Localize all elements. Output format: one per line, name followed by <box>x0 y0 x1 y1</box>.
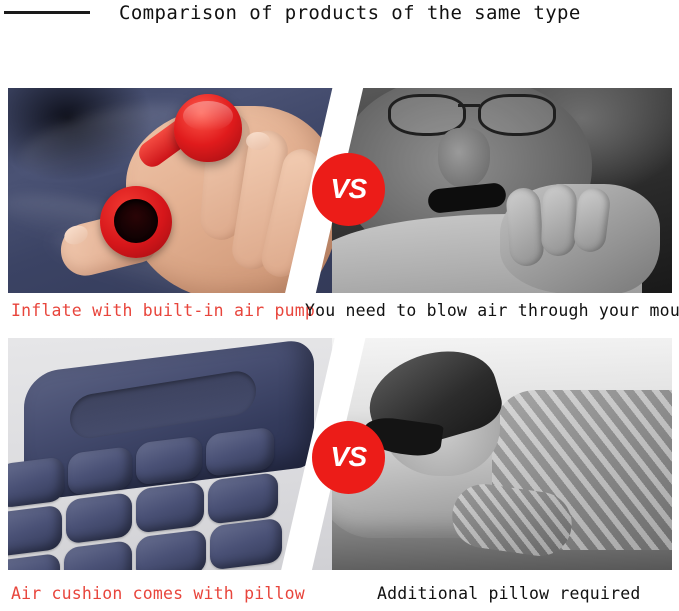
caption-product-pump: Inflate with built-in air pump <box>11 300 315 322</box>
eyeglasses-icon <box>478 94 556 136</box>
baffle-cell <box>206 427 274 477</box>
versus-badge-label: VS <box>330 175 366 203</box>
horizontal-rule-icon <box>4 11 90 14</box>
baffle-cell <box>68 446 132 496</box>
air-valve-opening <box>114 199 158 243</box>
baffle-cell <box>8 505 62 557</box>
comparison-media-2: VS <box>8 338 672 570</box>
caption-product-pillow: Air cushion comes with pillow <box>11 583 305 605</box>
baffle-cell <box>136 435 202 485</box>
versus-badge-label: VS <box>330 443 366 471</box>
eyeglasses-bridge <box>458 104 480 107</box>
caption-competitor-pillow: Additional pillow required <box>377 583 640 605</box>
baffle-cell <box>136 529 206 570</box>
baffle-cell <box>136 481 204 533</box>
pump-cap <box>174 94 242 162</box>
versus-badge: VS <box>312 153 385 226</box>
page-header: Comparison of products of the same type <box>0 0 679 46</box>
caption-competitor-mouth: You need to blow air through your mouth <box>305 300 679 322</box>
finger-shape <box>541 183 577 256</box>
versus-badge: VS <box>312 421 385 494</box>
finger-shape <box>505 187 544 267</box>
air-valve-base <box>100 186 172 258</box>
comparison-media-1: VS <box>8 88 672 293</box>
baffle-cell <box>8 553 60 570</box>
baffle-cell <box>210 518 282 570</box>
page-title: Comparison of products of the same type <box>119 1 581 25</box>
caption-row-2: Air cushion comes with pillow Additional… <box>0 583 679 611</box>
nose-shape <box>438 128 490 188</box>
baffle-cell <box>208 472 278 525</box>
fingernail-shape <box>246 132 270 150</box>
caption-row-1: Inflate with built-in air pump You need … <box>0 300 679 328</box>
comparison-row-2: VS <box>8 338 672 570</box>
baffle-cell <box>64 540 132 570</box>
comparison-row-1: VS <box>8 88 672 293</box>
baffle-cell <box>8 456 64 508</box>
baffle-cell <box>66 492 132 544</box>
